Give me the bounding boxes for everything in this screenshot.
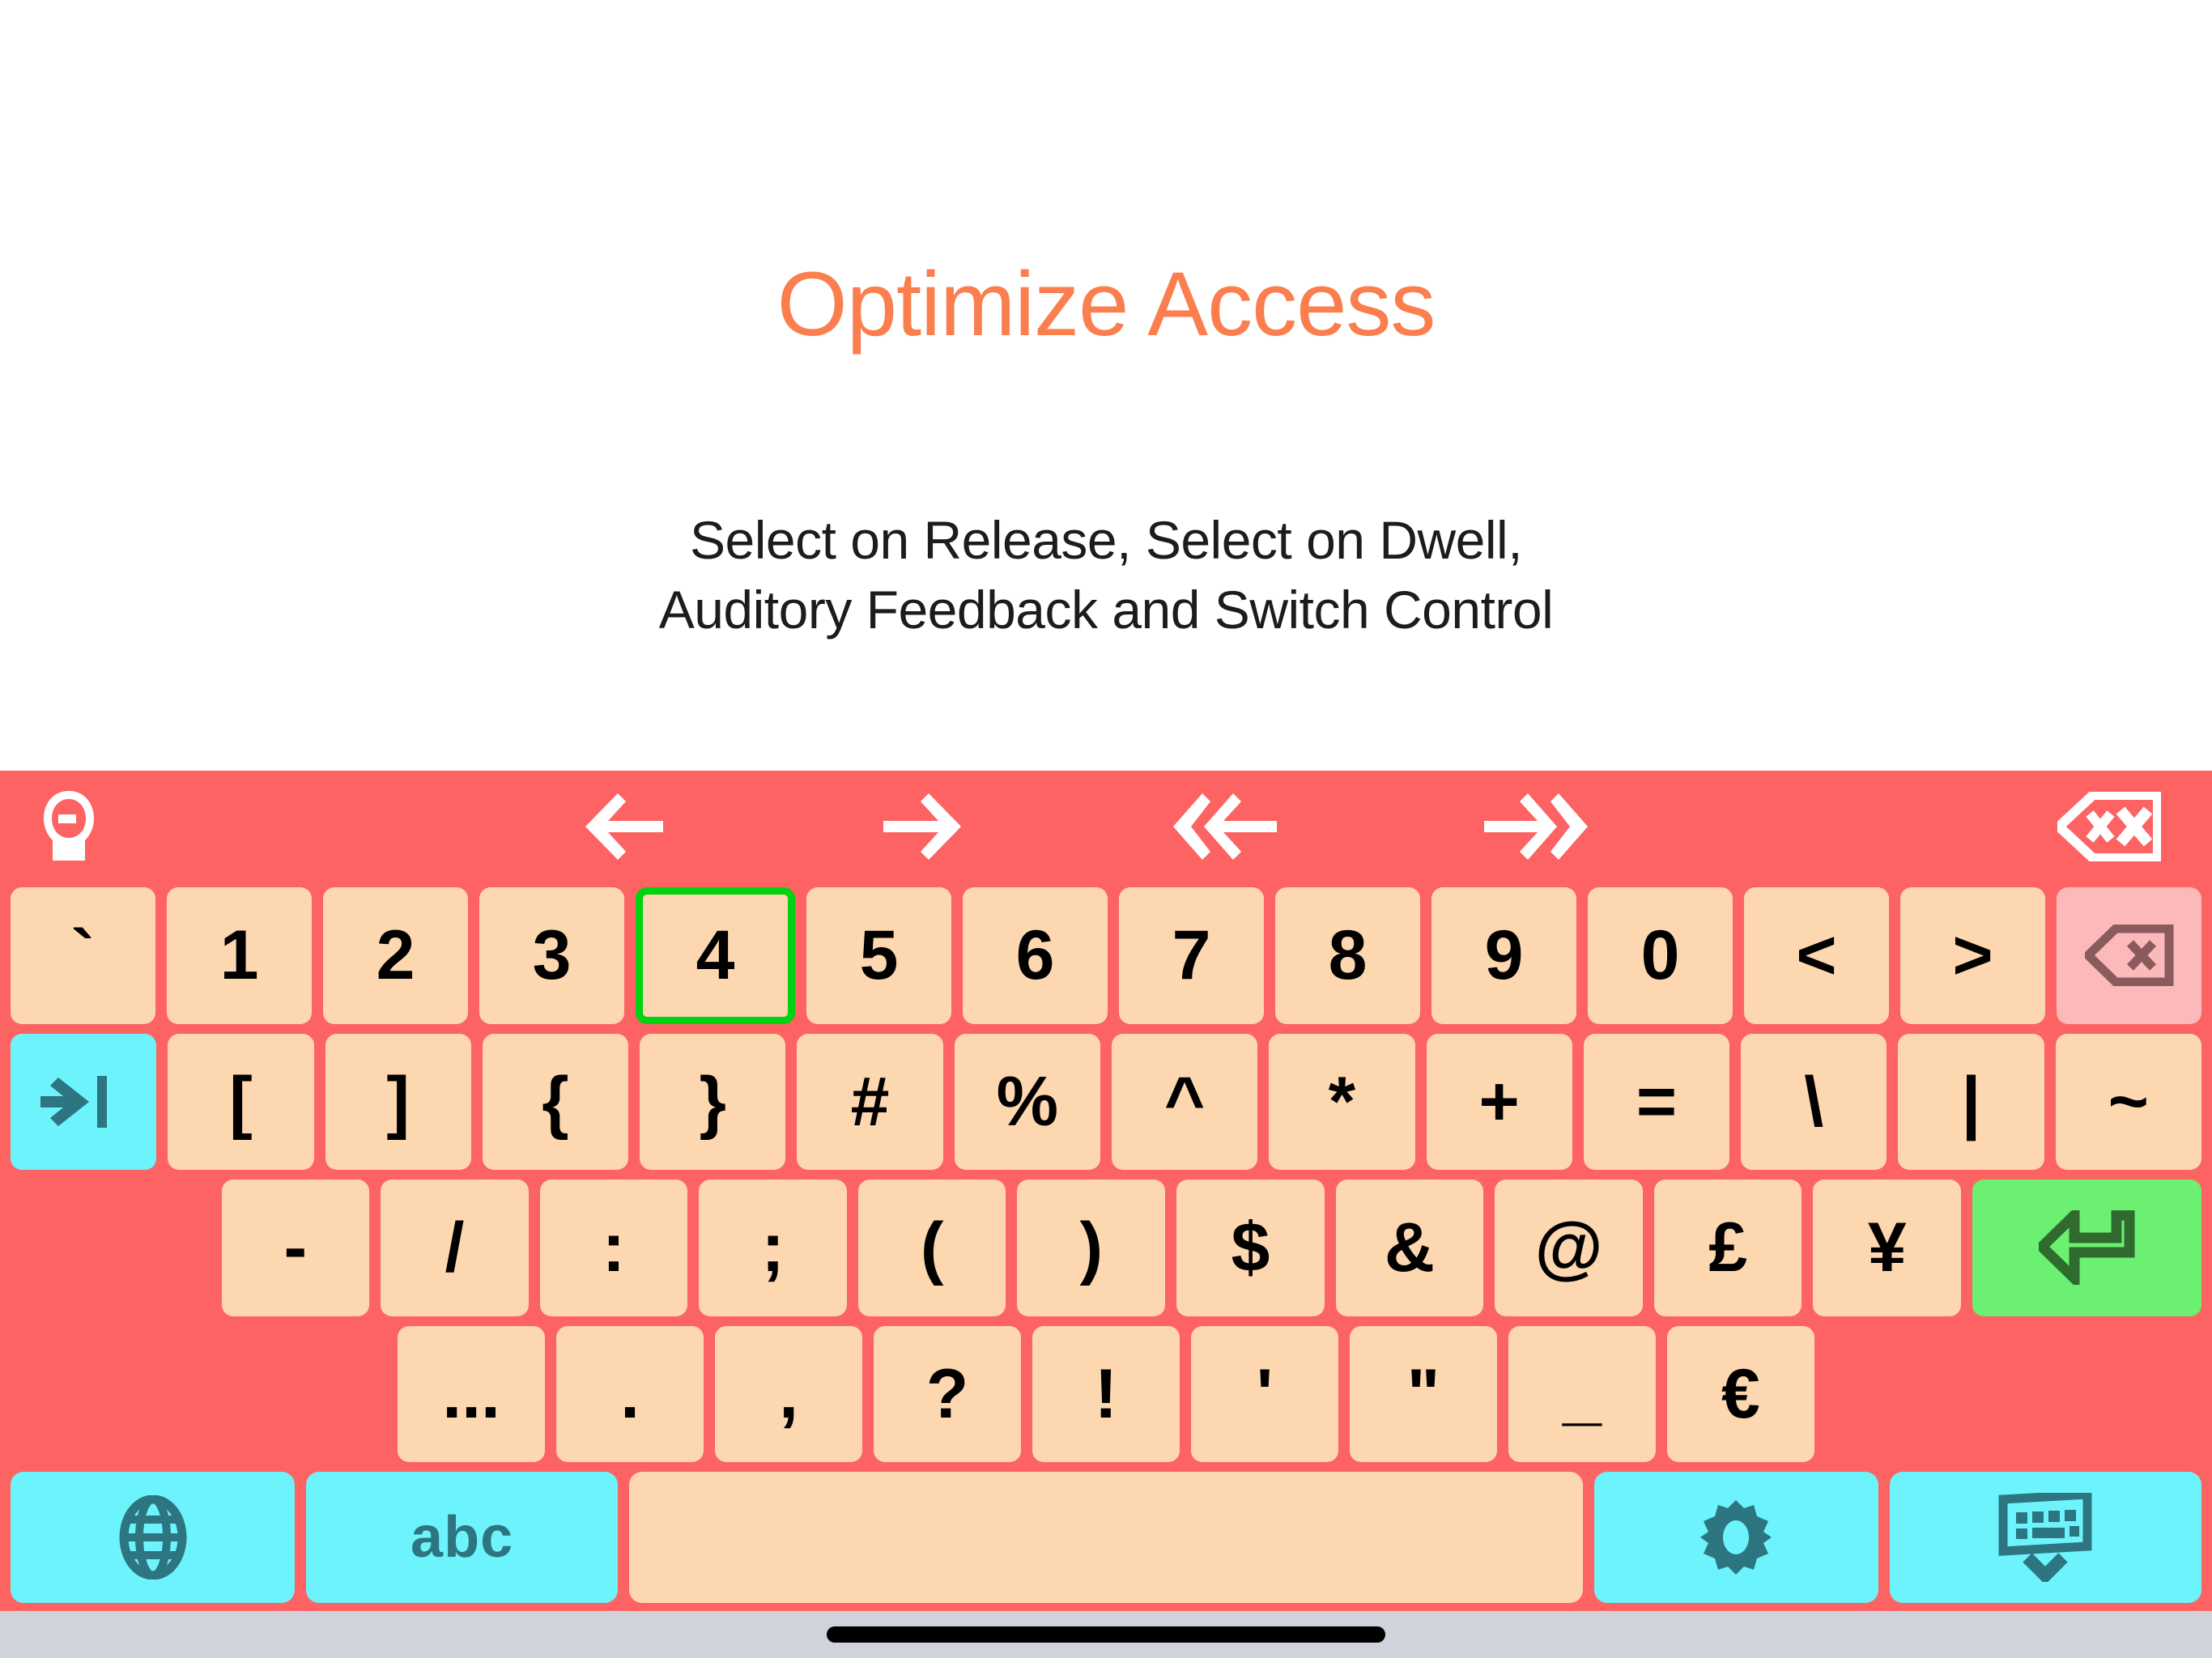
keyboard-row-4: ... . , ? ! ' " _ € — [5, 1321, 2207, 1468]
key-less-than[interactable]: < — [1744, 887, 1889, 1024]
key-ampersand[interactable]: & — [1336, 1180, 1484, 1316]
on-screen-keyboard: ` 1 2 3 4 5 6 7 8 9 0 < > — [0, 771, 2212, 1611]
double-arrow-left-icon[interactable] — [1158, 771, 1295, 882]
key-percent[interactable]: % — [955, 1034, 1100, 1171]
row-4-right-spacer — [1826, 1326, 2201, 1463]
globe-icon — [119, 1495, 187, 1579]
key-brace-right[interactable]: } — [640, 1034, 785, 1171]
row-3-left-spacer — [11, 1180, 211, 1316]
key-at[interactable]: @ — [1495, 1180, 1643, 1316]
hide-keyboard-icon — [1998, 1493, 2092, 1582]
page-subtitle: Select on Release, Select on Dwell, Audi… — [659, 506, 1554, 645]
key-4[interactable]: 4 — [636, 887, 795, 1024]
key-equals[interactable]: = — [1584, 1034, 1729, 1171]
key-greater-than[interactable]: > — [1900, 887, 2045, 1024]
tab-icon — [39, 1069, 128, 1134]
key-colon[interactable]: : — [540, 1180, 688, 1316]
key-euro[interactable]: € — [1667, 1326, 1814, 1463]
key-quote[interactable]: " — [1350, 1326, 1497, 1463]
key-6[interactable]: 6 — [963, 887, 1108, 1024]
key-dollar[interactable]: $ — [1176, 1180, 1325, 1316]
key-plus[interactable]: + — [1427, 1034, 1572, 1171]
keyboard-bottom-row: abc — [0, 1467, 2212, 1611]
key-9[interactable]: 9 — [1431, 887, 1576, 1024]
key-backspace[interactable] — [2057, 887, 2201, 1024]
key-3[interactable]: 3 — [479, 887, 624, 1024]
arrow-right-icon[interactable] — [866, 771, 980, 882]
key-backslash[interactable]: \ — [1741, 1034, 1887, 1171]
key-settings[interactable] — [1594, 1472, 1878, 1603]
double-arrow-right-icon[interactable] — [1465, 771, 1603, 882]
key-caret[interactable]: ^ — [1112, 1034, 1257, 1171]
key-8[interactable]: 8 — [1275, 887, 1420, 1024]
key-semicolon[interactable]: ; — [699, 1180, 847, 1316]
key-comma[interactable]: , — [715, 1326, 862, 1463]
key-asterisk[interactable]: * — [1269, 1034, 1414, 1171]
key-slash[interactable]: / — [381, 1180, 529, 1316]
info-panel: Optimize Access Select on Release, Selec… — [0, 0, 2212, 771]
keyboard-toolbar — [0, 771, 2212, 882]
clear-all-icon[interactable] — [2048, 771, 2170, 882]
key-paren-right[interactable]: ) — [1017, 1180, 1165, 1316]
key-7[interactable]: 7 — [1119, 887, 1264, 1024]
key-period[interactable]: . — [556, 1326, 704, 1463]
key-exclamation[interactable]: ! — [1032, 1326, 1180, 1463]
key-yen[interactable]: ¥ — [1813, 1180, 1961, 1316]
key-question[interactable]: ? — [874, 1326, 1021, 1463]
key-ellipsis[interactable]: ... — [398, 1326, 545, 1463]
key-tilde[interactable]: ~ — [2056, 1034, 2201, 1171]
gear-icon — [1699, 1499, 1773, 1576]
arrow-left-icon[interactable] — [567, 771, 680, 882]
key-1[interactable]: 1 — [167, 887, 312, 1024]
keyboard-row-2: [ ] { } # % ^ * + = \ | ~ — [5, 1029, 2207, 1175]
key-5[interactable]: 5 — [806, 887, 951, 1024]
keyboard-row-3: - / : ; ( ) $ & @ £ ¥ — [5, 1175, 2207, 1321]
key-pound[interactable]: £ — [1654, 1180, 1802, 1316]
key-hide-keyboard[interactable] — [1890, 1472, 2201, 1603]
key-2[interactable]: 2 — [323, 887, 468, 1024]
key-space[interactable] — [629, 1472, 1583, 1603]
enter-icon — [2039, 1210, 2136, 1285]
key-hash[interactable]: # — [797, 1034, 942, 1171]
page-subtitle-line-1: Select on Release, Select on Dwell, — [659, 506, 1554, 576]
home-indicator-bar[interactable] — [827, 1626, 1385, 1643]
page-title: Optimize Access — [777, 259, 1436, 350]
key-bracket-left[interactable]: [ — [168, 1034, 313, 1171]
page-subtitle-line-2: Auditory Feedback and Switch Control — [659, 576, 1554, 645]
key-brace-left[interactable]: { — [483, 1034, 628, 1171]
speak-icon[interactable] — [16, 771, 121, 882]
key-globe[interactable] — [11, 1472, 295, 1603]
key-abc[interactable]: abc — [306, 1472, 618, 1603]
key-0[interactable]: 0 — [1588, 887, 1733, 1024]
key-bracket-right[interactable]: ] — [325, 1034, 471, 1171]
keyboard-key-rows: ` 1 2 3 4 5 6 7 8 9 0 < > — [0, 882, 2212, 1467]
key-backtick[interactable]: ` — [11, 887, 155, 1024]
keyboard-row-1: ` 1 2 3 4 5 6 7 8 9 0 < > — [5, 882, 2207, 1029]
backspace-icon — [2085, 925, 2174, 986]
key-tab[interactable] — [11, 1034, 156, 1171]
key-hyphen[interactable]: - — [222, 1180, 370, 1316]
home-indicator-strip — [0, 1611, 2212, 1658]
key-paren-left[interactable]: ( — [858, 1180, 1006, 1316]
row-4-left-spacer — [11, 1326, 386, 1463]
key-enter[interactable] — [1972, 1180, 2201, 1316]
key-underscore[interactable]: _ — [1508, 1326, 1656, 1463]
key-apostrophe[interactable]: ' — [1191, 1326, 1338, 1463]
key-pipe[interactable]: | — [1898, 1034, 2044, 1171]
app-root: Optimize Access Select on Release, Selec… — [0, 0, 2212, 1658]
